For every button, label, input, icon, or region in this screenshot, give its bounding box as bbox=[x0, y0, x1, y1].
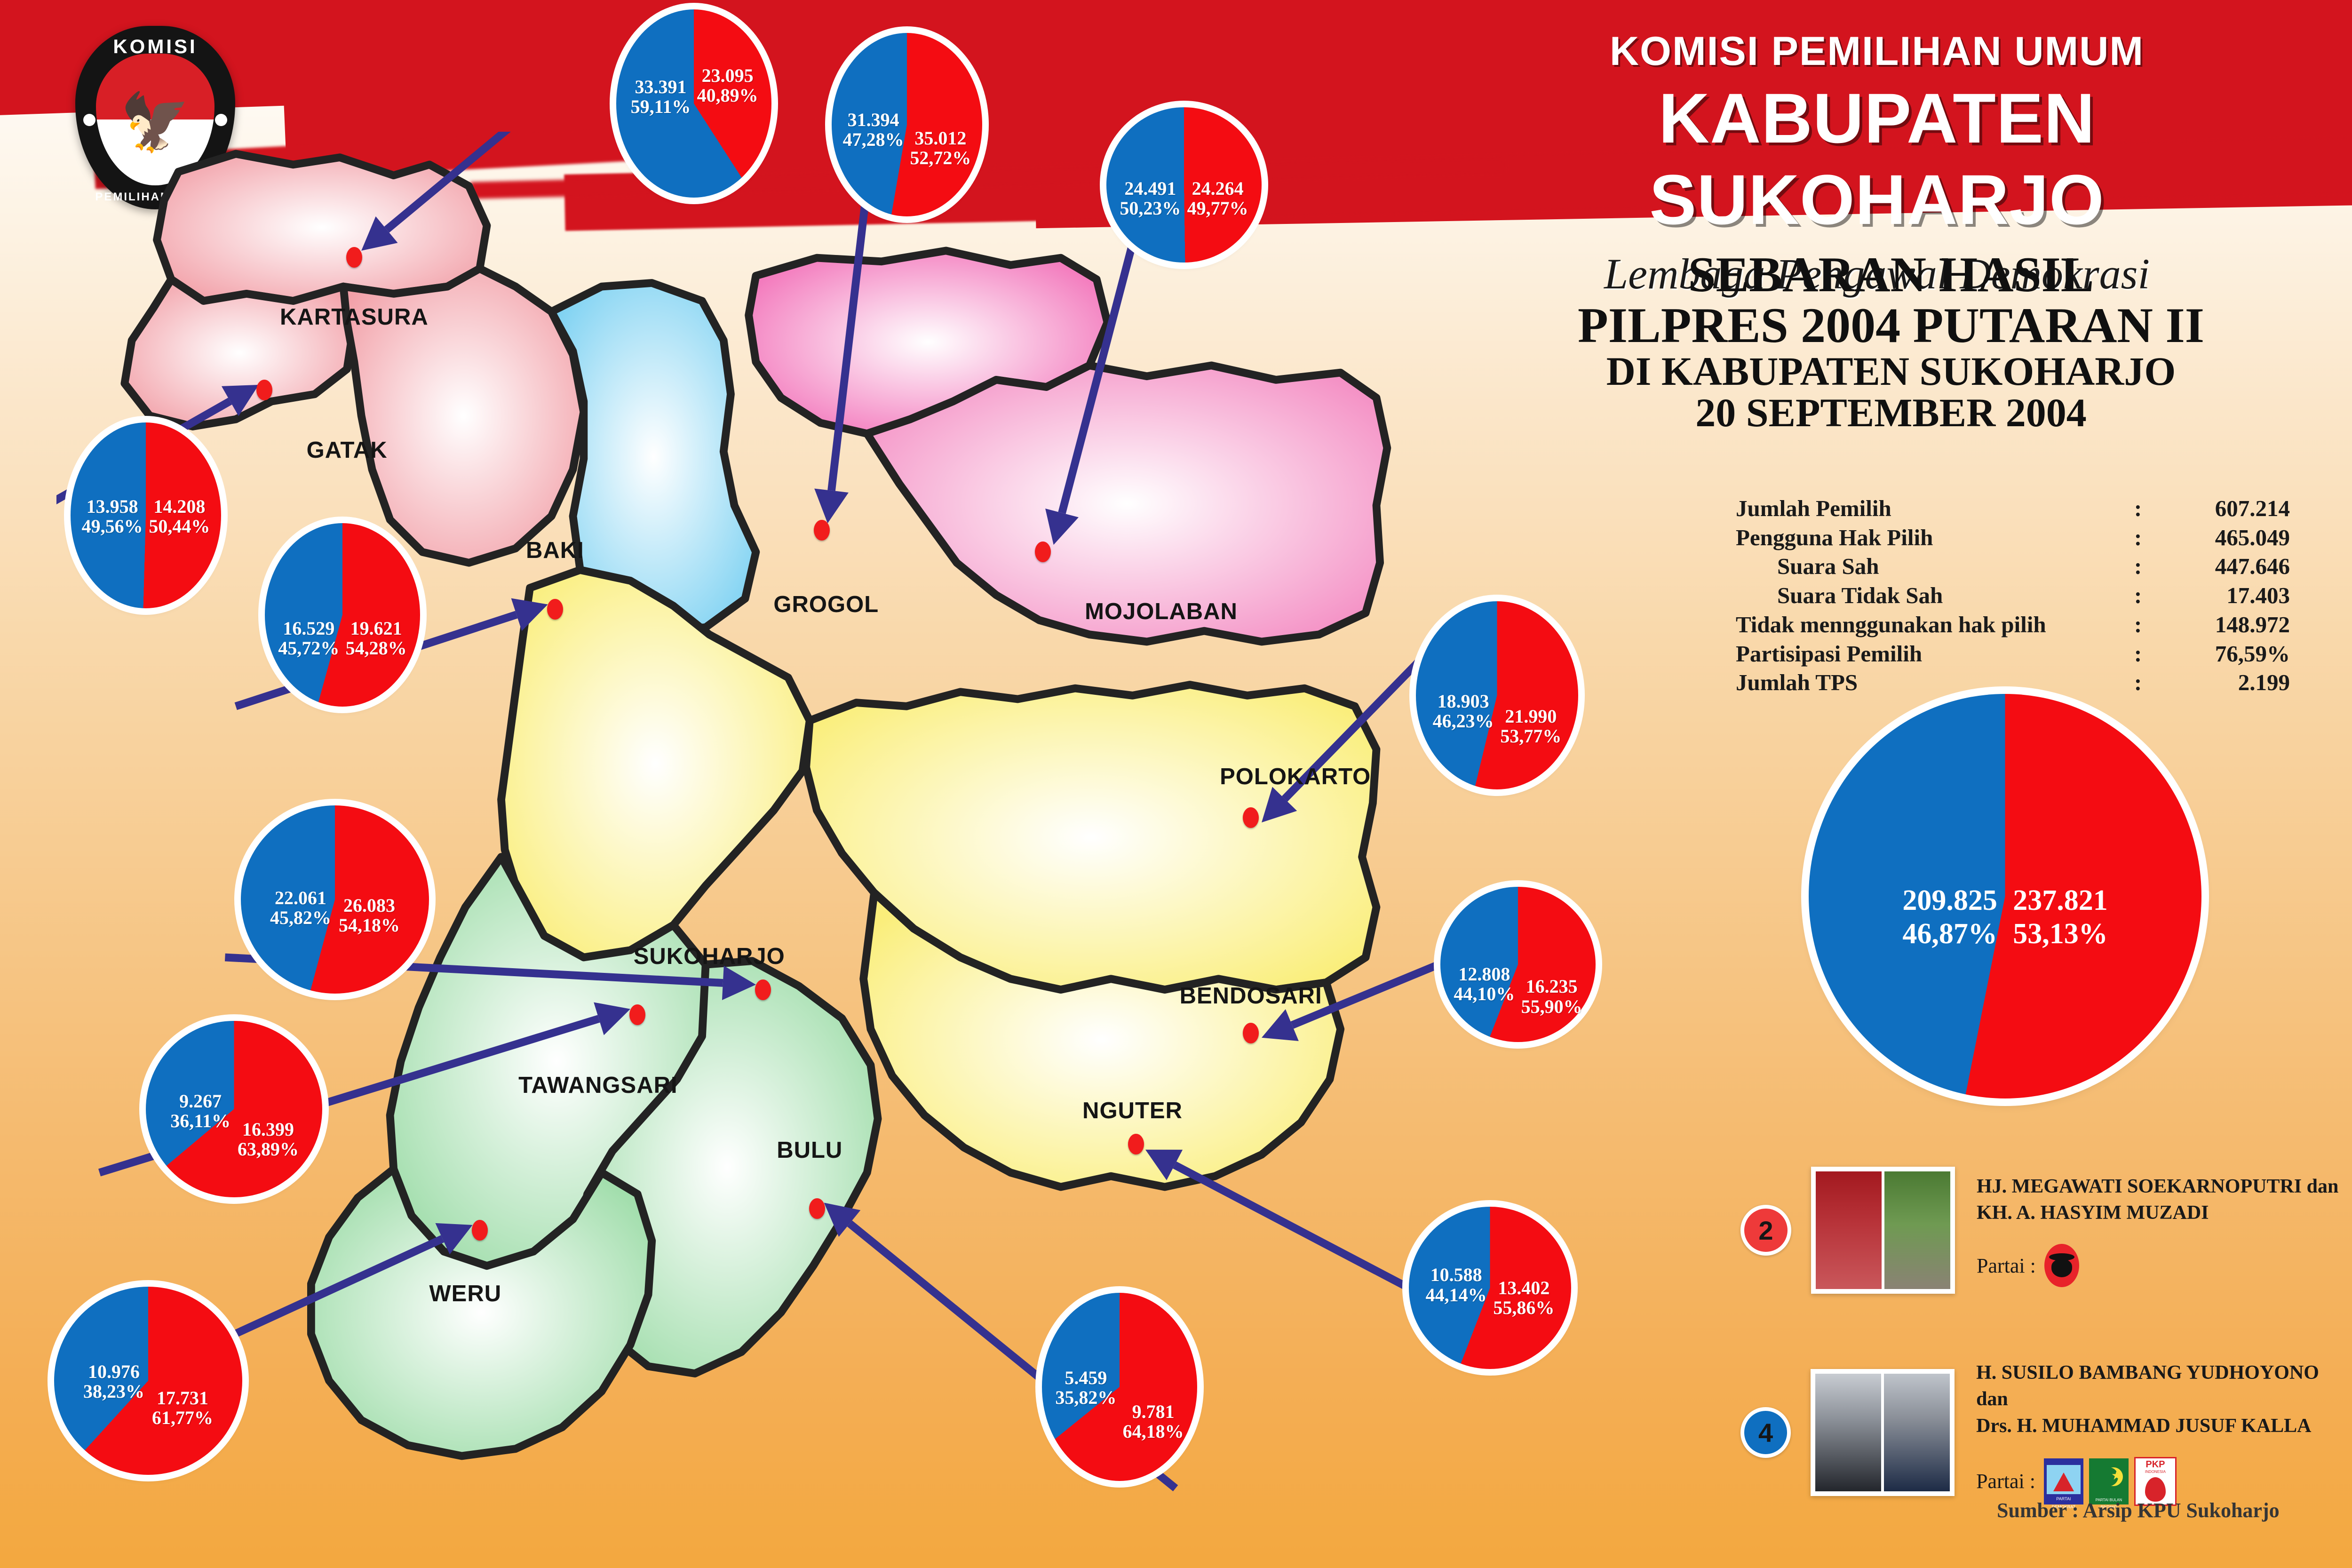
statistics-colon: : bbox=[2127, 552, 2149, 581]
statistics-colon: : bbox=[2127, 494, 2149, 523]
candidate-photos-2 bbox=[1811, 1167, 1955, 1294]
statistics-row: Suara Tidak Sah:17.403 bbox=[1736, 581, 2314, 610]
map-region-kartasura[interactable] bbox=[157, 154, 487, 301]
photo-hasyim-muzadi bbox=[1884, 1171, 1950, 1289]
pie-label-blue-bulu: 5.45935,82% bbox=[1055, 1368, 1116, 1408]
map-label-grogol: GROGOL bbox=[773, 591, 879, 618]
kpu-logo-top-text: KOMISI bbox=[75, 35, 235, 58]
map-label-baki: BAKI bbox=[526, 537, 584, 564]
total-pie-red-label: 237.82153,13% bbox=[2013, 884, 2108, 950]
title-line-4: 20 SEPTEMBER 2004 bbox=[1491, 392, 2291, 434]
source-note: Sumber : Arsip KPU Sukoharjo bbox=[1997, 1498, 2280, 1522]
pie-label-red-kartasura: 23.09540,89% bbox=[697, 66, 758, 106]
map-dot-bulu bbox=[809, 1198, 825, 1219]
statistics-label: Jumlah TPS bbox=[1736, 668, 2127, 697]
pie-chart-nguter: 10.58844,14%13.40255,86% bbox=[1409, 1207, 1571, 1369]
map-svg bbox=[56, 132, 1491, 1496]
pie-slices bbox=[241, 805, 429, 994]
map-dot-baki bbox=[547, 599, 563, 620]
statistics-table: Jumlah Pemilih:607.214Pengguna Hak Pilih… bbox=[1736, 494, 2314, 697]
pie-label-blue-tawangsari: 9.26736,11% bbox=[170, 1091, 230, 1131]
statistics-label: Suara Sah bbox=[1736, 552, 2127, 581]
map-dot-tawangsari bbox=[629, 1004, 645, 1025]
statistics-row: Partisipasi Pemilih:76,59% bbox=[1736, 639, 2314, 669]
map-dot-sukoharjo bbox=[755, 979, 771, 1000]
statistics-label: Tidak mennggunakan hak pilih bbox=[1736, 610, 2127, 639]
page-title: SEBARAN HASIL PILPRES 2004 PUTARAN II DI… bbox=[1491, 249, 2291, 434]
total-pie-blue-label: 209.82546,87% bbox=[1902, 884, 1997, 950]
candidate-legend-2: 2 HJ. MEGAWATI SOEKARNOPUTRI dan KH. A. … bbox=[1740, 1167, 2338, 1294]
candidate-number-badge-4: 4 bbox=[1740, 1407, 1791, 1458]
title-line-3: DI KABUPATEN SUKOHARJO bbox=[1491, 351, 2291, 392]
statistics-colon: : bbox=[2127, 668, 2149, 697]
map-dot-mojolaban bbox=[1035, 541, 1051, 562]
photo-sby bbox=[1815, 1374, 1881, 1491]
statistics-label: Jumlah Pemilih bbox=[1736, 494, 2127, 523]
statistics-label: Pengguna Hak Pilih bbox=[1736, 523, 2127, 552]
map-label-tawangsari: TAWANGSARI bbox=[518, 1072, 677, 1098]
pie-label-blue-baki: 16.52945,72% bbox=[278, 619, 339, 659]
title-line-2: PILPRES 2004 PUTARAN II bbox=[1491, 300, 2291, 351]
statistics-value: 2.199 bbox=[2149, 668, 2314, 697]
pie-label-blue-gatak: 13.95849,56% bbox=[82, 497, 143, 537]
map-dot-grogol bbox=[814, 520, 830, 541]
map-label-mojolaban: MOJOLABAN bbox=[1085, 598, 1238, 625]
statistics-value: 447.646 bbox=[2149, 552, 2314, 581]
pie-label-red-polokarto: 21.99053,77% bbox=[1500, 707, 1561, 747]
statistics-row: Tidak mennggunakan hak pilih:148.972 bbox=[1736, 610, 2314, 639]
statistics-row: Pengguna Hak Pilih:465.049 bbox=[1736, 523, 2314, 552]
pie-label-blue-polokarto: 18.90346,23% bbox=[1433, 692, 1494, 732]
pie-label-blue-grogol: 31.39447,28% bbox=[843, 110, 904, 150]
pie-label-blue-kartasura: 33.39159,11% bbox=[631, 77, 691, 117]
pie-label-red-weru: 17.73161,77% bbox=[152, 1388, 213, 1428]
pie-label-red-mojolaban: 24.26449,77% bbox=[1187, 179, 1248, 219]
map-label-bulu: BULU bbox=[777, 1137, 842, 1163]
map-label-polokarto: POLOKARTO bbox=[1220, 764, 1371, 790]
map-label-sukoharjo: SUKOHARJO bbox=[634, 943, 785, 970]
pie-label-red-bendosari: 16.23555,90% bbox=[1521, 977, 1582, 1017]
party-label-4: Partai : bbox=[1976, 1469, 2035, 1493]
pie-chart-grogol: 31.39447,28%35.01252,72% bbox=[832, 33, 982, 216]
map-dot-weru bbox=[472, 1220, 488, 1241]
map-label-gatak: GATAK bbox=[307, 437, 388, 463]
statistics-label: Suara Tidak Sah bbox=[1736, 581, 2127, 610]
map-dot-polokarto bbox=[1243, 807, 1259, 828]
pie-chart-gatak: 13.95849,56%14.20850,44% bbox=[71, 422, 221, 608]
pie-slices bbox=[54, 1287, 242, 1475]
candidate-legend-4: 4 H. SUSILO BAMBANG YUDHOYONO dan Drs. H… bbox=[1740, 1360, 2352, 1506]
header-line-2: KABUPATEN SUKOHARJO bbox=[1454, 78, 2300, 240]
header-line-1: KOMISI PEMILIHAN UMUM bbox=[1454, 28, 2300, 75]
pie-label-red-sukoharjo: 26.08354,18% bbox=[339, 896, 400, 936]
pie-chart-tawangsari: 9.26736,11%16.39963,89% bbox=[146, 1021, 322, 1197]
pie-label-red-tawangsari: 16.39963,89% bbox=[238, 1120, 299, 1160]
kpu-logo-dot-right bbox=[215, 114, 227, 126]
title-line-1: SEBARAN HASIL bbox=[1491, 249, 2291, 300]
statistics-value: 607.214 bbox=[2149, 494, 2314, 523]
map-dot-kartasura bbox=[346, 247, 362, 268]
total-pie-chart: 209.82546,87% 237.82153,13% bbox=[1809, 694, 2201, 1098]
candidate-name-4-line2: Drs. H. MUHAMMAD JUSUF KALLA bbox=[1976, 1413, 2352, 1439]
pie-label-red-gatak: 14.20850,44% bbox=[149, 497, 210, 537]
statistics-colon: : bbox=[2127, 610, 2149, 639]
pdip-logo-icon bbox=[2044, 1244, 2079, 1287]
map-region-sukoharjo[interactable] bbox=[501, 570, 810, 958]
map-label-weru: WERU bbox=[429, 1281, 501, 1307]
pie-label-red-nguter: 13.40255,86% bbox=[1493, 1278, 1554, 1318]
pie-label-red-grogol: 35.01252,72% bbox=[910, 128, 971, 168]
statistics-row: Suara Sah:447.646 bbox=[1736, 552, 2314, 581]
map-dot-nguter bbox=[1128, 1134, 1144, 1154]
statistics-colon: : bbox=[2127, 639, 2149, 669]
partai-bulan-bintang-logo-icon: ★PARTAI BULAN BINTANG bbox=[2089, 1458, 2129, 1504]
statistics-value: 17.403 bbox=[2149, 581, 2314, 610]
map-dot-bendosari bbox=[1243, 1023, 1259, 1043]
map-label-nguter: NGUTER bbox=[1082, 1098, 1183, 1124]
statistics-row: Jumlah TPS:2.199 bbox=[1736, 668, 2314, 697]
statistics-row: Jumlah Pemilih:607.214 bbox=[1736, 494, 2314, 523]
map-label-kartasura: KARTASURA bbox=[280, 304, 429, 330]
pie-chart-baki: 16.52945,72%19.62154,28% bbox=[265, 523, 420, 707]
pie-label-blue-weru: 10.97638,23% bbox=[83, 1362, 144, 1402]
partai-demokrat-logo-icon: PARTAI DEMOKRAT bbox=[2044, 1458, 2083, 1504]
statistics-value: 465.049 bbox=[2149, 523, 2314, 552]
candidate-name-2-line1: HJ. MEGAWATI SOEKARNOPUTRI dan bbox=[1977, 1173, 2338, 1200]
pie-chart-bendosari: 12.80844,10%16.23555,90% bbox=[1440, 887, 1596, 1042]
photo-jusuf-kalla bbox=[1884, 1374, 1950, 1491]
pie-label-blue-mojolaban: 24.49150,23% bbox=[1120, 179, 1181, 219]
pie-label-blue-bendosari: 12.80844,10% bbox=[1454, 964, 1515, 1004]
statistics-value: 148.972 bbox=[2149, 610, 2314, 639]
candidate-name-2-line2: KH. A. HASYIM MUZADI bbox=[1977, 1200, 2338, 1226]
pie-chart-polokarto: 18.90346,23%21.99053,77% bbox=[1416, 601, 1578, 789]
candidate-photos-4 bbox=[1811, 1369, 1955, 1496]
statistics-colon: : bbox=[2127, 523, 2149, 552]
pie-label-red-bulu: 9.78164,18% bbox=[1123, 1402, 1184, 1442]
sukoharjo-map: KARTASURAGATAKBAKIGROGOLMOJOLABANPOLOKAR… bbox=[56, 132, 1491, 1496]
statistics-colon: : bbox=[2127, 581, 2149, 610]
statistics-value: 76,59% bbox=[2149, 639, 2314, 669]
pie-label-blue-sukoharjo: 22.06145,82% bbox=[270, 888, 331, 928]
pie-chart-sukoharjo: 22.06145,82%26.08354,18% bbox=[241, 805, 429, 994]
map-label-bendosari: BENDOSARI bbox=[1180, 983, 1322, 1009]
pie-chart-mojolaban: 24.49150,23%24.26449,77% bbox=[1106, 107, 1262, 263]
pie-chart-bulu: 5.45935,82%9.78164,18% bbox=[1042, 1293, 1197, 1481]
pie-chart-kartasura: 33.39159,11%23.09540,89% bbox=[616, 9, 771, 198]
pie-label-blue-nguter: 10.58844,14% bbox=[1426, 1265, 1487, 1305]
candidate-name-4-line1: H. SUSILO BAMBANG YUDHOYONO dan bbox=[1976, 1360, 2352, 1413]
pie-label-red-baki: 19.62154,28% bbox=[346, 619, 407, 659]
map-dot-gatak bbox=[256, 380, 272, 400]
photo-megawati bbox=[1816, 1171, 1882, 1289]
candidate-number-badge-2: 2 bbox=[1740, 1205, 1791, 1256]
party-label-2: Partai : bbox=[1977, 1254, 2036, 1278]
statistics-label: Partisipasi Pemilih bbox=[1736, 639, 2127, 669]
arrow-grogol-head bbox=[814, 488, 849, 523]
pie-chart-weru: 10.97638,23%17.73161,77% bbox=[54, 1287, 242, 1475]
pie-slices bbox=[265, 523, 420, 707]
kpu-logo-dot-left bbox=[83, 114, 95, 126]
